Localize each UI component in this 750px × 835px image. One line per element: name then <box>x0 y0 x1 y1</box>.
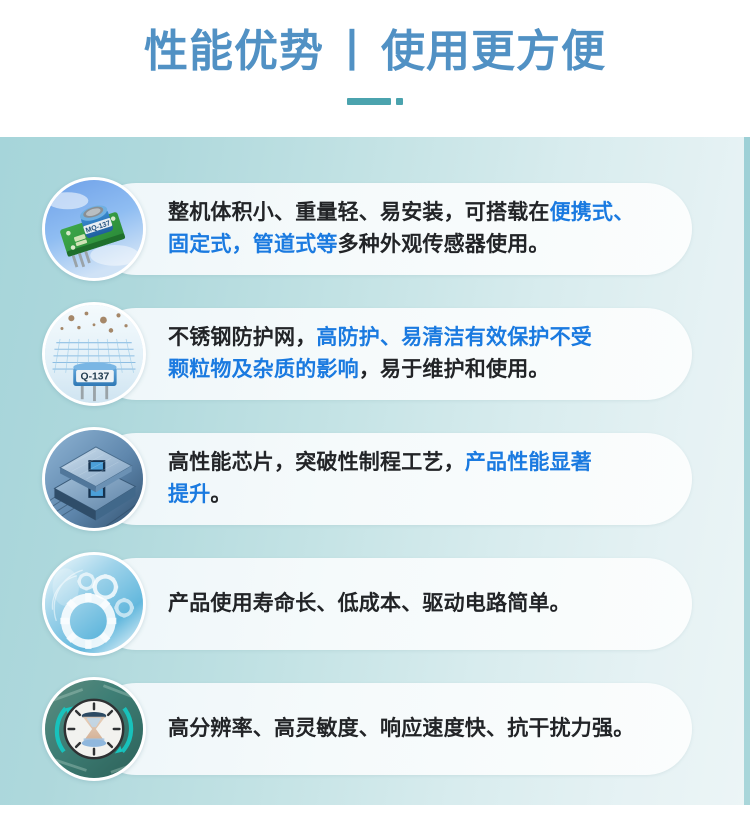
feature-card-1-line2-plain: 多种外观传感器使用。 <box>338 233 550 256</box>
feature-card-5-text: 高分辨率、高灵敏度、响应速度快、抗干扰力强。 <box>168 677 688 781</box>
feature-card-1: MQ-137 整机体积小、重量轻、易安装，可搭载在便携式、 固定式，管道式等多种… <box>42 177 692 281</box>
mq137-sensor-module-photo: MQ-137 <box>42 177 146 281</box>
page-title-separator: 丨 <box>324 24 381 80</box>
feature-card-3-line2-plain: 。 <box>210 483 231 506</box>
feature-card-5-line1: 高分辨率、高灵敏度、响应速度快、抗干扰力强。 <box>168 713 688 745</box>
page-title: 性能优势丨使用更方便 <box>0 24 750 80</box>
feature-card-5: 高分辨率、高灵敏度、响应速度快、抗干扰力强。 <box>42 677 692 781</box>
feature-card-3-line1: 高性能芯片，突破性制程工艺，产品性能显著 <box>168 447 688 479</box>
feature-card-1-line1: 整机体积小、重量轻、易安装，可搭载在便携式、 <box>168 197 688 229</box>
promo-page: 性能优势丨使用更方便 <box>0 0 750 835</box>
feature-card-1-line1-highlight: 便携式、 <box>550 201 635 224</box>
features-panel: MQ-137 整机体积小、重量轻、易安装，可搭载在便携式、 固定式，管道式等多种… <box>0 137 750 805</box>
page-header: 性能优势丨使用更方便 <box>0 0 750 137</box>
page-title-right: 使用更方便 <box>381 27 606 76</box>
gears-graphic <box>42 552 146 656</box>
feature-card-1-line2-highlight: 固定式，管道式等 <box>168 233 338 256</box>
feature-card-1-text: 整机体积小、重量轻、易安装，可搭载在便携式、 固定式，管道式等多种外观传感器使用… <box>168 177 688 281</box>
feature-card-1-line2: 固定式，管道式等多种外观传感器使用。 <box>168 229 688 261</box>
feature-card-3: 高性能芯片，突破性制程工艺，产品性能显著 提升。 <box>42 427 692 531</box>
feature-card-2-line2-plain: ，易于维护和使用。 <box>359 358 550 381</box>
stainless-mesh-sensor-photo: Q-137 <box>42 302 146 406</box>
feature-card-1-line1-plain: 整机体积小、重量轻、易安装，可搭载在 <box>168 201 550 224</box>
accent-bar <box>347 98 391 105</box>
feature-card-2-line1-highlight: 高防护、易清洁有效保护不受 <box>316 326 592 349</box>
hourglass-clock-graphic <box>42 677 146 781</box>
svg-text:Q-137: Q-137 <box>81 371 110 382</box>
title-accent-rule <box>0 96 750 106</box>
feature-card-3-text: 高性能芯片，突破性制程工艺，产品性能显著 提升。 <box>168 427 688 531</box>
feature-card-2-line1-plain: 不锈钢防护网， <box>168 326 316 349</box>
feature-card-4: 产品使用寿命长、低成本、驱动电路简单。 <box>42 552 692 656</box>
feature-card-4-line1: 产品使用寿命长、低成本、驱动电路简单。 <box>168 588 688 620</box>
feature-card-4-text: 产品使用寿命长、低成本、驱动电路简单。 <box>168 552 688 656</box>
feature-card-3-line1-plain: 高性能芯片，突破性制程工艺， <box>168 451 465 474</box>
accent-dot <box>396 98 403 105</box>
feature-card-2-line2: 颗粒物及杂质的影响，易于维护和使用。 <box>168 354 688 386</box>
page-title-left: 性能优势 <box>144 27 324 76</box>
feature-card-3-line2-highlight: 提升 <box>168 483 210 506</box>
semiconductor-chip-photo <box>42 427 146 531</box>
feature-card-2-line1: 不锈钢防护网，高防护、易清洁有效保护不受 <box>168 322 688 354</box>
feature-card-2-line2-highlight: 颗粒物及杂质的影响 <box>168 358 359 381</box>
feature-card-2: Q-137 不锈钢防护网，高防护、易清洁有效保护不受 颗粒物及杂质的影响，易于维… <box>42 302 692 406</box>
feature-card-3-line1-highlight: 产品性能显著 <box>465 451 592 474</box>
feature-card-3-line2: 提升。 <box>168 479 688 511</box>
feature-card-2-text: 不锈钢防护网，高防护、易清洁有效保护不受 颗粒物及杂质的影响，易于维护和使用。 <box>168 302 688 406</box>
